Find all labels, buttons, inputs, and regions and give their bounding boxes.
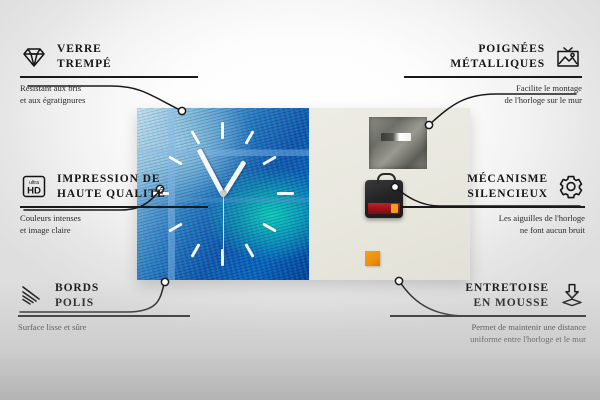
foam-spacer [365,251,380,266]
feature-header: MÉCANISME SILENCIEUX [400,172,585,201]
feature-header: BORDS POLIS [18,281,190,310]
feature-rule [20,76,198,77]
feature-impression-haute-qualite: ultra HD IMPRESSION DE HAUTE QUALITÉ Cou… [20,172,208,237]
feature-header: ENTRETOISE EN MOUSSE [390,281,586,310]
feature-title: BORDS POLIS [55,281,99,310]
feature-title: POIGNÉES MÉTALLIQUES [450,42,545,71]
hour-tick [221,249,224,266]
feature-description: Couleurs intenses et image claire [20,212,208,237]
gear-icon [557,174,585,200]
feature-description: Surface lisse et sûre [18,321,190,334]
hour-tick [221,122,224,139]
hour-hand [221,160,246,196]
hour-tick [190,243,200,257]
infographic-poster: VERRE TREMPÉ Résistant aux bris et aux é… [0,0,600,400]
clock-hub [220,191,226,197]
ultra-hd-icon: ultra HD [20,174,48,200]
feature-description: Les aiguilles de l'horloge ne font aucun… [400,212,585,237]
feature-rule [20,206,208,207]
hour-tick [168,155,182,165]
wall-mount-icon [554,44,582,70]
feature-verre-trempe: VERRE TREMPÉ Résistant aux bris et aux é… [20,42,198,107]
feature-mecanisme-silencieux: MÉCANISME SILENCIEUX Les aiguilles de l'… [400,172,585,237]
spacer-down-arrow-icon [558,283,586,309]
feature-entretoise-en-mousse: ENTRETOISE EN MOUSSE Permet de maintenir… [390,281,586,346]
feature-header: ultra HD IMPRESSION DE HAUTE QUALITÉ [20,172,208,201]
clock-movement [365,180,403,218]
feature-title: ENTRETOISE EN MOUSSE [465,281,549,310]
feature-header: VERRE TREMPÉ [20,42,198,71]
feature-bords-polis: BORDS POLIS Surface lisse et sûre [18,281,190,333]
hour-tick [244,243,254,257]
movement-hanger-loop [377,173,396,184]
feature-description: Permet de maintenir une distance uniform… [390,321,586,346]
hour-tick [190,130,200,144]
feature-title: VERRE TREMPÉ [57,42,112,71]
hour-tick [244,130,254,144]
feature-rule [400,206,585,207]
feature-description: Facilite le montage de l'horloge sur le … [404,82,582,107]
battery-terminal [391,204,398,213]
feature-title: MÉCANISME SILENCIEUX [467,172,548,201]
polished-edge-icon [18,283,46,309]
hour-tick [262,222,276,232]
feature-title: IMPRESSION DE HAUTE QUALITÉ [57,172,166,201]
feature-description: Résistant aux bris et aux égratignures [20,82,198,107]
metal-hanger-plate [369,117,427,169]
feature-rule [404,76,582,77]
hour-tick [277,192,294,195]
diamond-icon [20,44,48,70]
feature-poignees-metalliques: POIGNÉES MÉTALLIQUES Facilite le montage… [404,42,582,107]
feature-rule [390,315,586,316]
second-hand [223,194,225,256]
feature-header: POIGNÉES MÉTALLIQUES [404,42,582,71]
feature-rule [18,315,190,316]
hour-tick [262,155,276,165]
battery [368,203,400,214]
hanger-slot [381,133,411,141]
svg-text:HD: HD [27,186,41,197]
